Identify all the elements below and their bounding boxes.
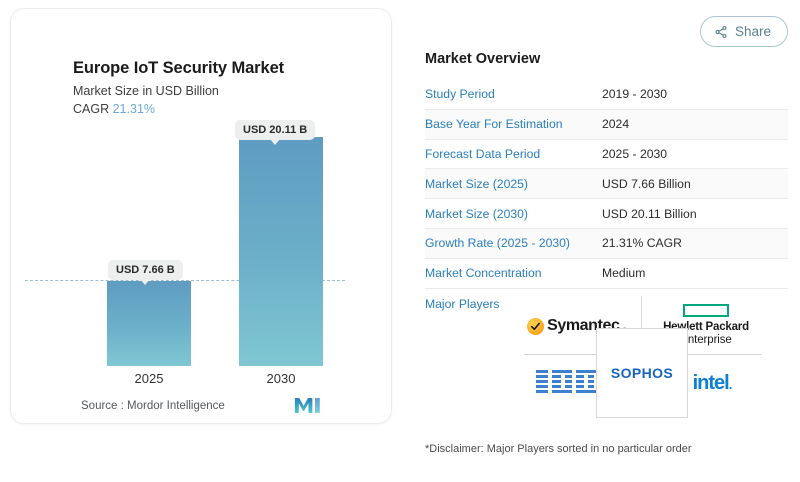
x-tick-2030: 2030 <box>239 371 323 386</box>
hpe-logo-icon <box>683 304 729 317</box>
bar-label-2030: USD 20.11 B <box>235 120 315 140</box>
bar-chart-plot: USD 7.66 B USD 20.11 B 2025 2030 <box>11 9 391 423</box>
disclaimer-text: *Disclaimer: Major Players sorted in no … <box>425 443 692 455</box>
table-row: Study Period 2019 - 2030 <box>425 80 788 110</box>
row-value: 21.31% CAGR <box>602 236 682 250</box>
row-value: USD 7.66 Billion <box>602 177 691 191</box>
row-value: 2024 <box>602 117 629 131</box>
row-key: Market Concentration <box>425 266 602 280</box>
table-row: Market Concentration Medium <box>425 259 788 289</box>
major-players-grid: Symantec . Hewlett Packard Enterprise <box>508 296 776 416</box>
symantec-check-icon <box>527 318 544 335</box>
x-tick-2025: 2025 <box>107 371 191 386</box>
row-key: Base Year For Estimation <box>425 117 602 131</box>
bar-2030[interactable] <box>239 137 323 366</box>
share-button-label: Share <box>735 24 771 39</box>
source-text: Source : Mordor Intelligence <box>81 400 225 412</box>
bar-label-2025: USD 7.66 B <box>108 260 183 280</box>
chart-card: Europe IoT Security Market Market Size i… <box>10 8 392 424</box>
player-logo-sophos: SOPHOS <box>596 328 688 418</box>
row-key: Market Size (2025) <box>425 177 602 191</box>
table-row: Growth Rate (2025 - 2030) 21.31% CAGR <box>425 229 788 259</box>
mordor-intelligence-logo-icon <box>294 395 322 415</box>
table-row: Market Size (2030) USD 20.11 Billion <box>425 199 788 229</box>
row-value: 2019 - 2030 <box>602 87 667 101</box>
market-overview-title: Market Overview <box>425 51 540 67</box>
page-root: Europe IoT Security Market Market Size i… <box>0 0 800 482</box>
table-row: Base Year For Estimation 2024 <box>425 110 788 140</box>
intel-wordmark: intel. <box>693 372 732 395</box>
row-key: Study Period <box>425 87 602 101</box>
table-row: Market Size (2025) USD 7.66 Billion <box>425 169 788 199</box>
row-key: Market Size (2030) <box>425 207 602 221</box>
market-overview-table: Study Period 2019 - 2030 Base Year For E… <box>425 80 788 319</box>
table-row: Forecast Data Period 2025 - 2030 <box>425 140 788 170</box>
row-key: Growth Rate (2025 - 2030) <box>425 236 602 250</box>
row-value: Medium <box>602 266 645 280</box>
share-nodes-icon <box>714 25 728 39</box>
row-key: Forecast Data Period <box>425 147 602 161</box>
intel-wordmark-text: intel <box>693 372 729 394</box>
intel-period: . <box>729 377 732 392</box>
sophos-wordmark: SOPHOS <box>611 365 673 381</box>
bar-2025[interactable] <box>107 281 191 366</box>
row-value: 2025 - 2030 <box>602 147 667 161</box>
row-value: USD 20.11 Billion <box>602 207 697 221</box>
share-button[interactable]: Share <box>700 16 788 47</box>
